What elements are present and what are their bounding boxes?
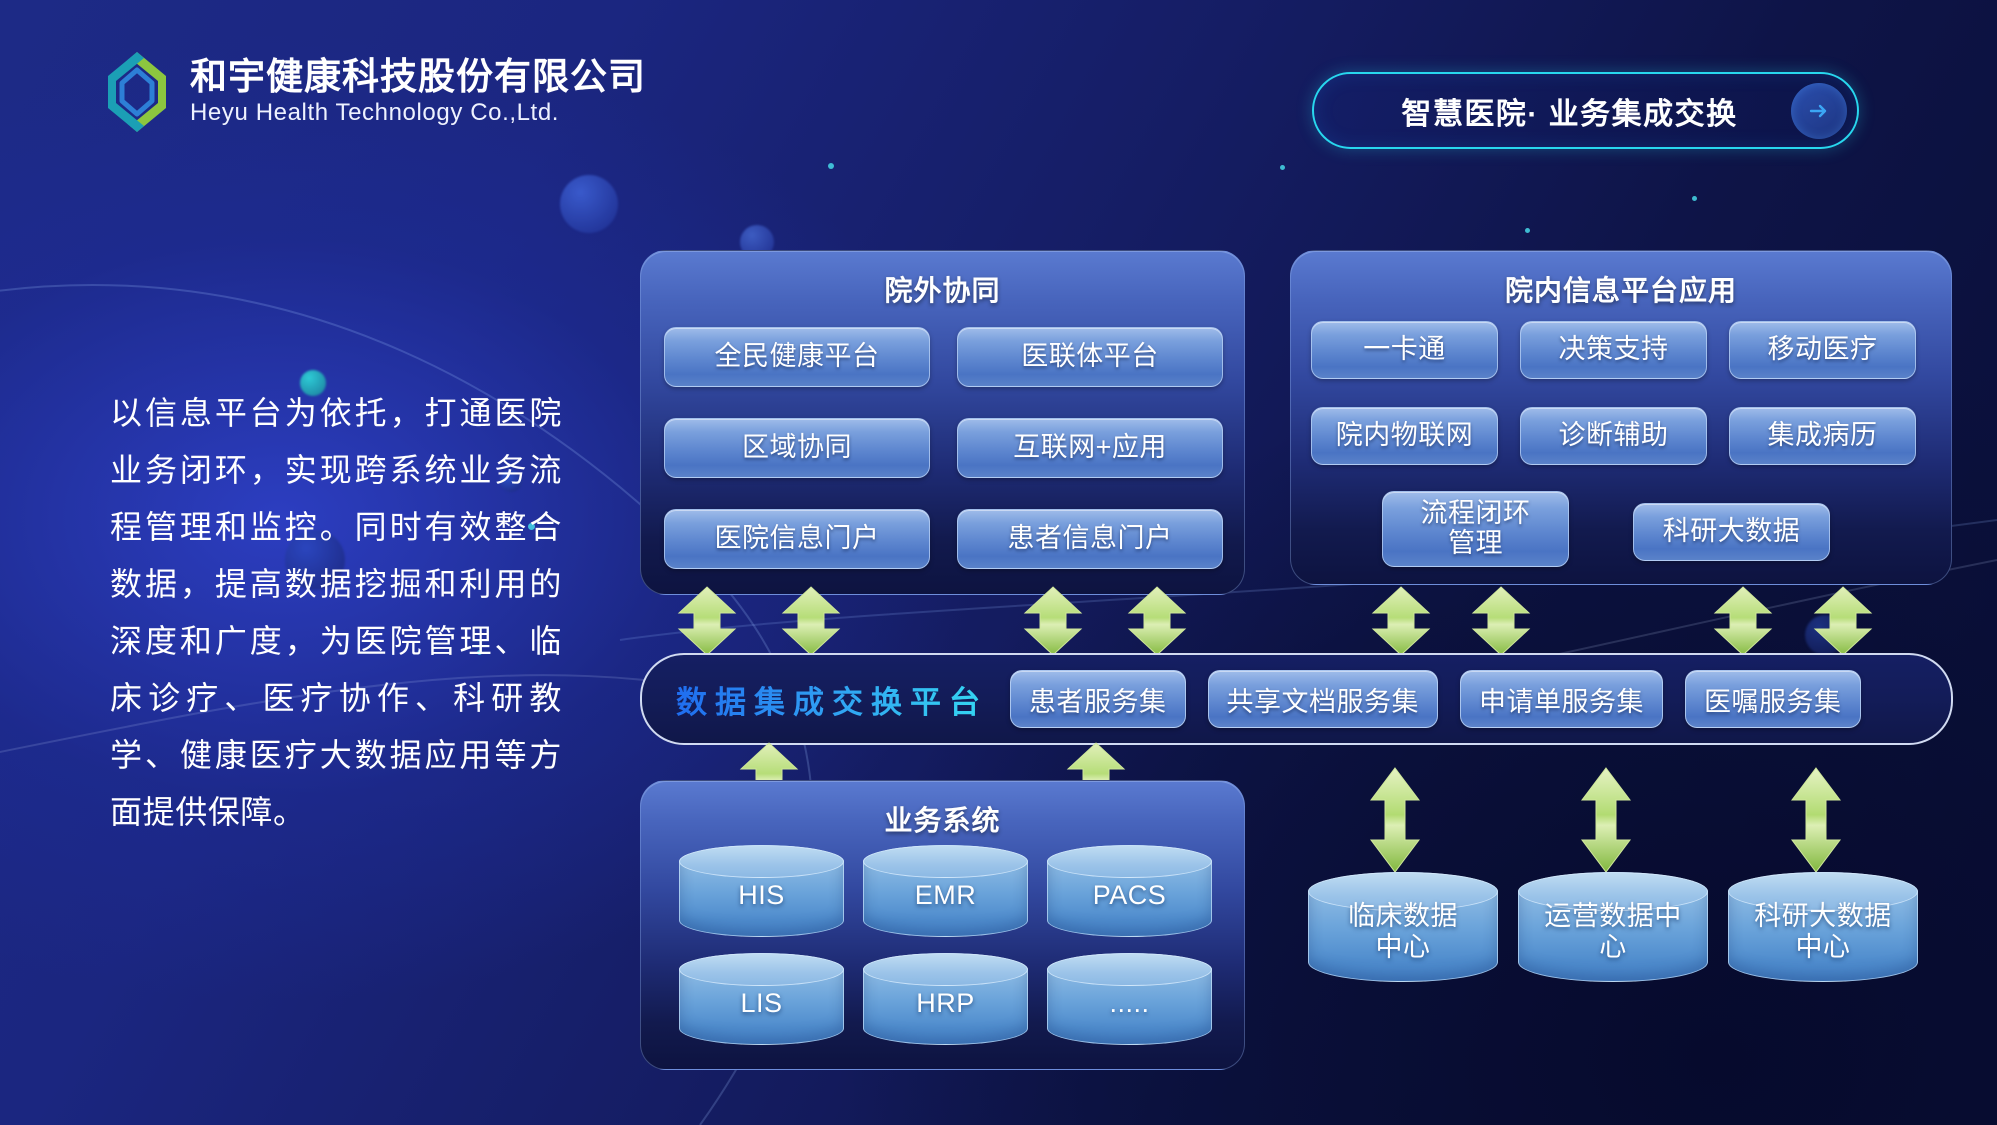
company-name-cn: 和宇健康科技股份有限公司 xyxy=(190,56,646,97)
cylinder-operation-data-center[interactable]: 运营数据中 心 xyxy=(1518,872,1708,982)
chip-external-0[interactable]: 全民健康平台 xyxy=(664,327,930,387)
service-chip-1[interactable]: 共享文档服务集 xyxy=(1208,670,1439,728)
panel-business-systems: 业务系统 HIS EMR PACS LIS HRP ..... xyxy=(640,780,1245,1070)
chip-internal-0[interactable]: 一卡通 xyxy=(1311,321,1498,379)
cylinder-label: 临床数据 中心 xyxy=(1348,891,1458,964)
topic-badge[interactable]: 智慧医院· 业务集成交换 xyxy=(1312,72,1859,149)
panel-business-title: 业务系统 xyxy=(641,799,1244,839)
double-headed-vertical-arrow-5 xyxy=(1370,586,1432,656)
double-headed-vertical-arrow-8 xyxy=(1812,586,1874,656)
arrow-right-icon[interactable] xyxy=(1791,83,1847,139)
cylinder-hrp[interactable]: HRP xyxy=(863,953,1028,1045)
cylinder-lis[interactable]: LIS xyxy=(679,953,844,1045)
chip-external-4[interactable]: 医院信息门户 xyxy=(664,509,930,569)
data-exchange-platform-label: 数据集成交换平台 xyxy=(676,677,988,722)
service-chip-0[interactable]: 患者服务集 xyxy=(1010,670,1186,728)
cylinder-clinical-data-center[interactable]: 临床数据 中心 xyxy=(1308,872,1498,982)
cylinder-his[interactable]: HIS xyxy=(679,845,844,937)
cylinder-label-line1: 科研大数据 xyxy=(1754,901,1892,931)
double-headed-vertical-arrow-13 xyxy=(1790,766,1842,874)
cylinder-label-line2: 心 xyxy=(1599,932,1627,962)
cylinder-label-line2: 中心 xyxy=(1376,932,1431,962)
double-headed-vertical-arrow-4 xyxy=(1126,586,1188,656)
chip-internal-5[interactable]: 集成病历 xyxy=(1729,407,1916,465)
brand-logo: 和宇健康科技股份有限公司 Heyu Health Technology Co.,… xyxy=(100,46,646,138)
double-headed-vertical-arrow-3 xyxy=(1022,586,1084,656)
chip-internal-1[interactable]: 决策支持 xyxy=(1520,321,1707,379)
topic-badge-label: 智慧医院· 业务集成交换 xyxy=(1314,89,1791,133)
panel-internal-platform: 院内信息平台应用 一卡通 决策支持 移动医疗 院内物联网 诊断辅助 集成病历 流… xyxy=(1290,250,1952,585)
chip-internal-3[interactable]: 院内物联网 xyxy=(1311,407,1498,465)
cylinder-more[interactable]: ..... xyxy=(1047,953,1212,1045)
chip-internal-2[interactable]: 移动医疗 xyxy=(1729,321,1916,379)
cylinder-label: HIS xyxy=(738,870,785,911)
double-headed-vertical-arrow-7 xyxy=(1712,586,1774,656)
data-exchange-platform-bar: 数据集成交换平台 患者服务集 共享文档服务集 申请单服务集 医嘱服务集 xyxy=(640,653,1953,745)
panel-internal-title: 院内信息平台应用 xyxy=(1291,269,1951,309)
double-headed-vertical-arrow-6 xyxy=(1470,586,1532,656)
slide-canvas: 和宇健康科技股份有限公司 Heyu Health Technology Co.,… xyxy=(0,0,1997,1125)
service-chip-2[interactable]: 申请单服务集 xyxy=(1460,670,1663,728)
cylinder-label: HRP xyxy=(916,978,975,1019)
cylinder-label: EMR xyxy=(915,870,977,911)
interlocking-diamonds-logo-icon xyxy=(100,46,174,138)
double-headed-vertical-arrow-11 xyxy=(1369,766,1421,874)
cylinder-label: LIS xyxy=(740,978,782,1019)
chip-external-1[interactable]: 医联体平台 xyxy=(957,327,1223,387)
intro-paragraph: 以信息平台为依托，打通医院业务闭环，实现跨系统业务流程管理和监控。同时有效整合数… xyxy=(110,385,562,841)
chip-external-2[interactable]: 区域协同 xyxy=(664,418,930,478)
chip-external-5[interactable]: 患者信息门户 xyxy=(957,509,1223,569)
cylinder-label-line1: 临床数据 xyxy=(1348,901,1458,931)
cylinder-label: 运营数据中 心 xyxy=(1544,891,1682,964)
panel-external-title: 院外协同 xyxy=(641,269,1244,309)
company-name-block: 和宇健康科技股份有限公司 Heyu Health Technology Co.,… xyxy=(190,56,646,129)
company-name-en: Heyu Health Technology Co.,Ltd. xyxy=(190,97,646,128)
cylinder-label: 科研大数据 中心 xyxy=(1754,891,1892,964)
double-headed-vertical-arrow-12 xyxy=(1580,766,1632,874)
cylinder-emr[interactable]: EMR xyxy=(863,845,1028,937)
double-headed-vertical-arrow-1 xyxy=(676,586,738,656)
chip-internal-6-line1: 流程闭环 xyxy=(1421,499,1531,529)
service-chip-3[interactable]: 医嘱服务集 xyxy=(1685,670,1861,728)
chip-external-3[interactable]: 互联网+应用 xyxy=(957,418,1223,478)
cylinder-label-line1: 运营数据中 xyxy=(1544,901,1682,931)
double-headed-vertical-arrow-2 xyxy=(780,586,842,656)
chip-internal-4[interactable]: 诊断辅助 xyxy=(1520,407,1707,465)
chip-internal-7[interactable]: 科研大数据 xyxy=(1633,503,1830,561)
cylinder-label: PACS xyxy=(1093,870,1167,911)
chip-internal-6-line2: 管理 xyxy=(1448,529,1503,559)
cylinder-label: ..... xyxy=(1109,978,1149,1019)
chip-internal-6[interactable]: 流程闭环 管理 xyxy=(1382,491,1569,567)
cylinder-pacs[interactable]: PACS xyxy=(1047,845,1212,937)
cylinder-research-bigdata-center[interactable]: 科研大数据 中心 xyxy=(1728,872,1918,982)
cylinder-label-line2: 中心 xyxy=(1796,932,1851,962)
panel-external-collaboration: 院外协同 全民健康平台 医联体平台 区域协同 互联网+应用 医院信息门户 患者信… xyxy=(640,250,1245,595)
